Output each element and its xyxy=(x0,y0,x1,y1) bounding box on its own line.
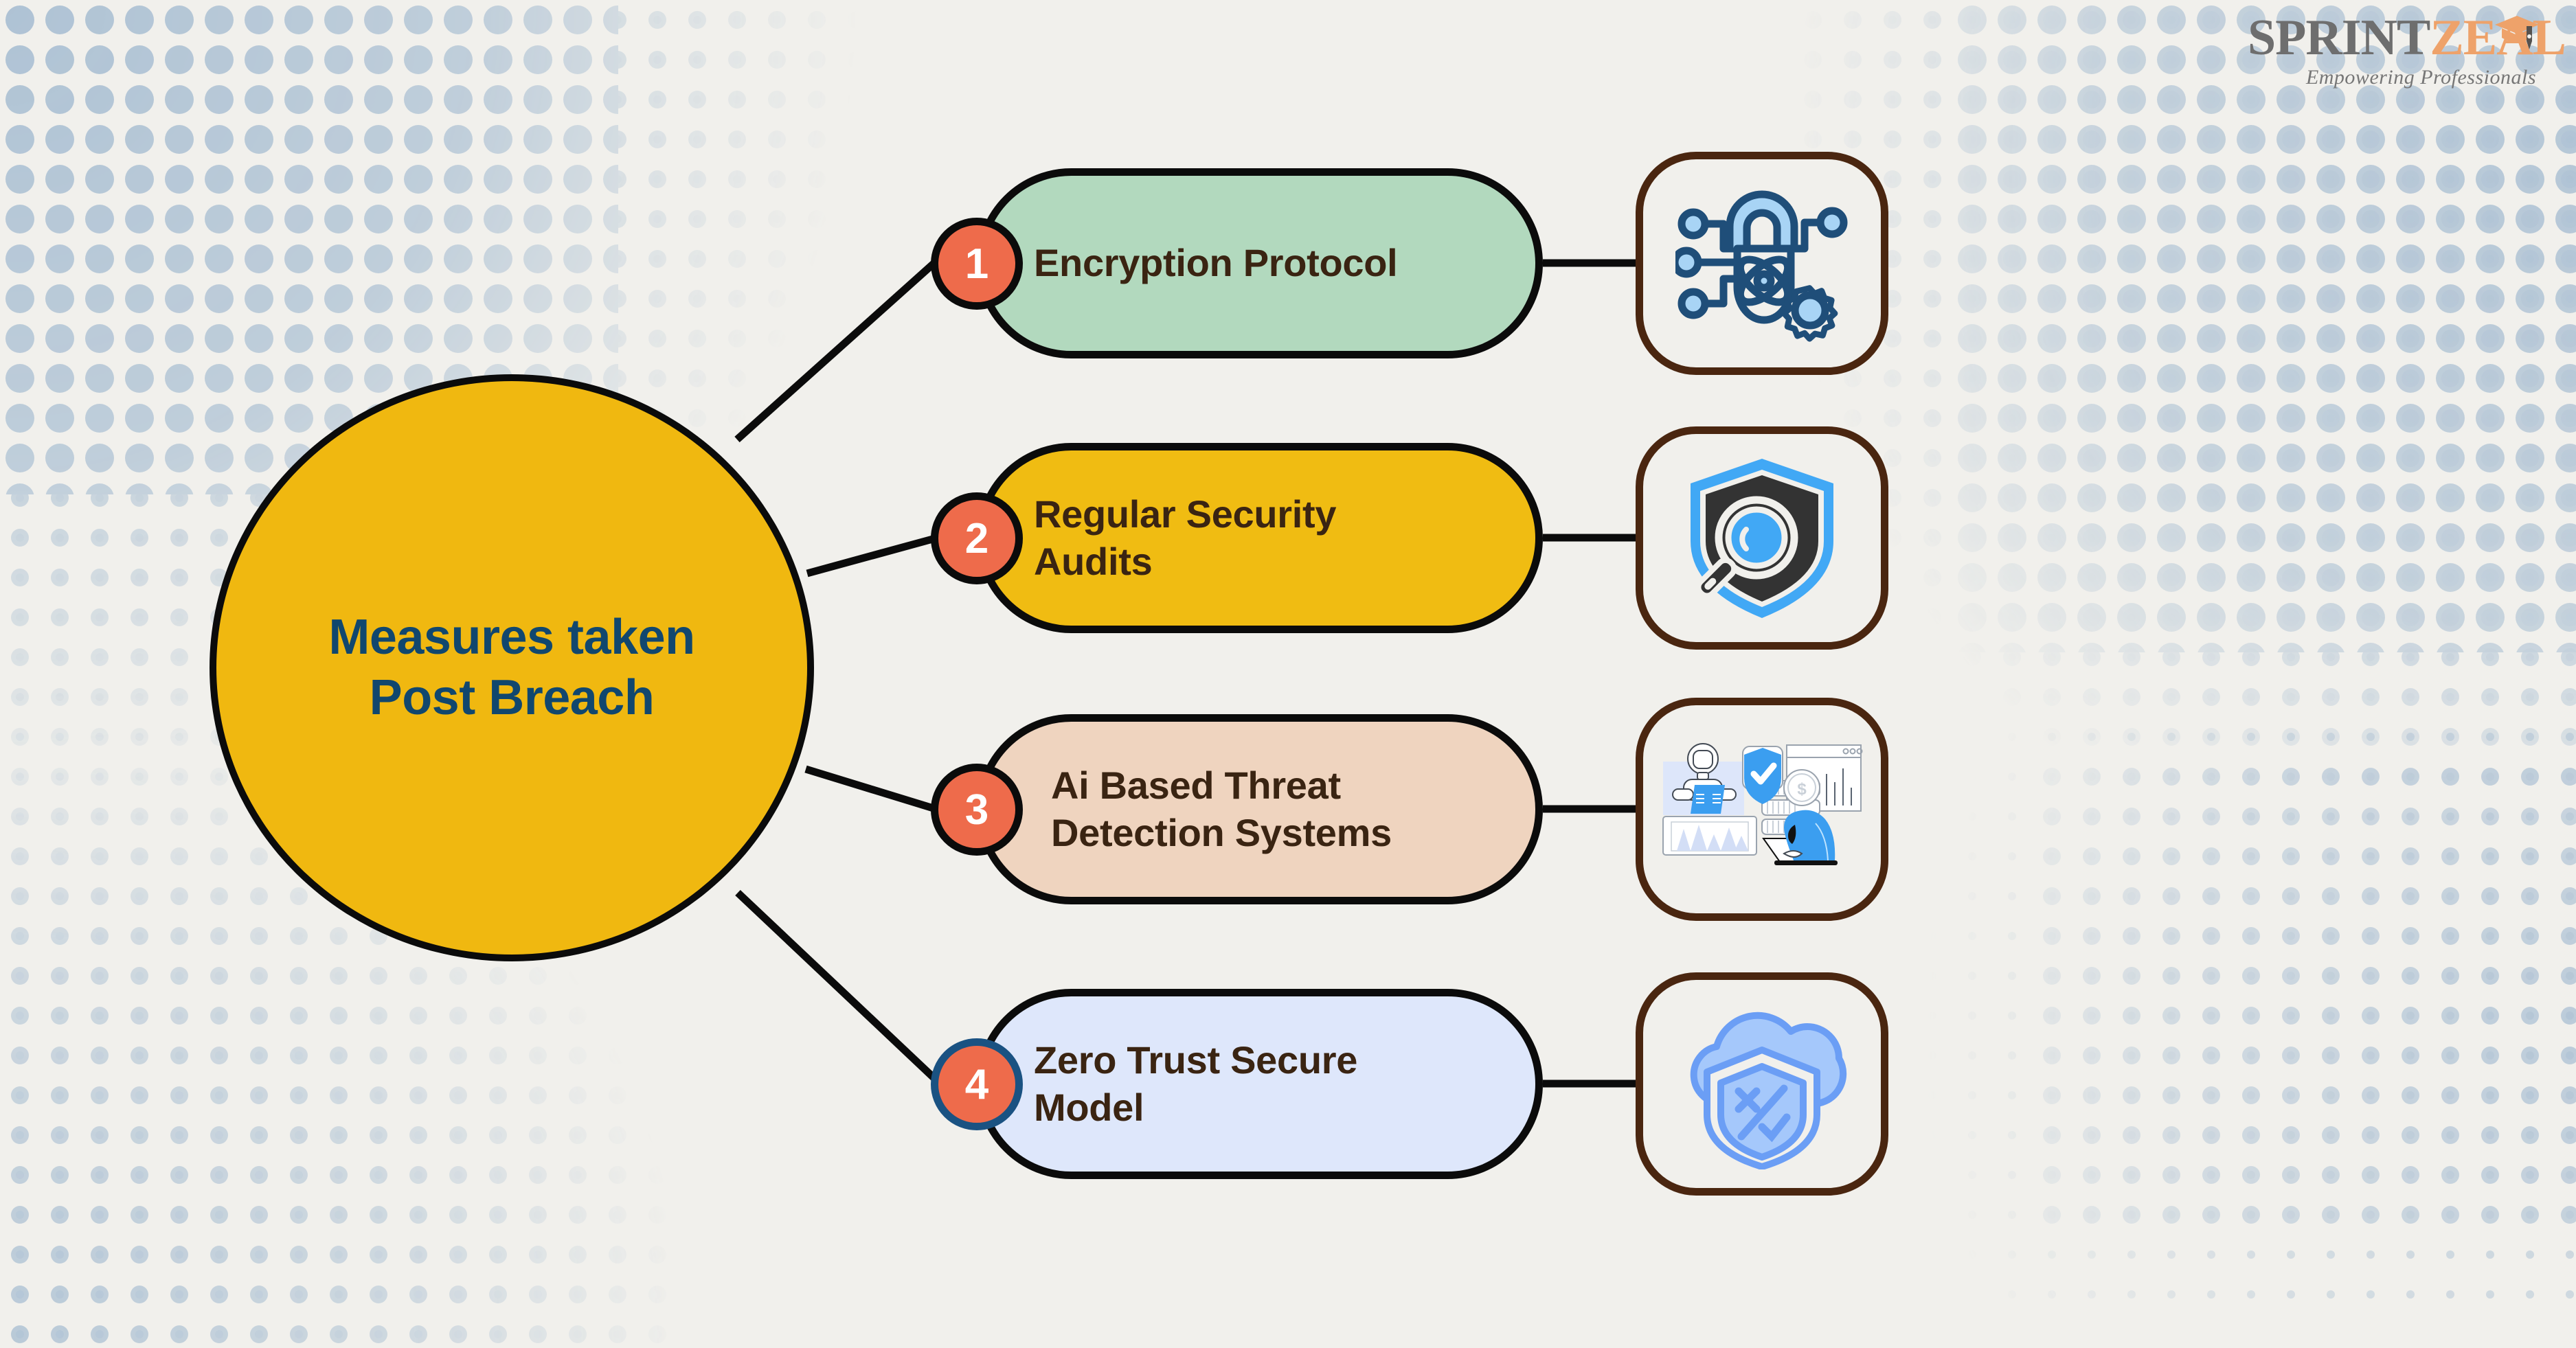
item-pill-2[interactable]: Regular Security Audits xyxy=(976,443,1543,633)
item-number-badge-2[interactable]: 2 xyxy=(931,492,1023,584)
item-number-1: 1 xyxy=(965,240,988,288)
item-number-2: 2 xyxy=(965,514,988,563)
item-icon-card-3[interactable]: $ xyxy=(1636,698,1888,921)
ai-threat-detection-scene-icon: $ xyxy=(1659,731,1865,888)
item-number-3: 3 xyxy=(965,786,988,834)
item-number-badge-3[interactable]: 3 xyxy=(931,764,1023,856)
item-label-4: Zero Trust Secure Model xyxy=(984,1037,1377,1131)
item-label-3: Ai Based Threat Detection Systems xyxy=(984,762,1411,856)
central-hub-node[interactable]: Measures taken Post Breach xyxy=(210,374,814,961)
cloud-shield-zero-trust-icon xyxy=(1675,999,1849,1169)
item-pill-3[interactable]: Ai Based Threat Detection Systems xyxy=(976,714,1543,904)
item-icon-card-2[interactable] xyxy=(1636,426,1888,650)
item-icon-card-1[interactable] xyxy=(1636,152,1888,375)
item-label-3-line-1: Ai Based Threat xyxy=(1051,762,1392,809)
svg-text:$: $ xyxy=(1797,780,1807,799)
item-label-4-line-1: Zero Trust Secure xyxy=(1034,1037,1357,1084)
item-label-2: Regular Security Audits xyxy=(984,491,1355,585)
infographic-canvas: SPRINTZEAL Empowering Professionals xyxy=(0,0,2576,1348)
item-pill-4[interactable]: Zero Trust Secure Model xyxy=(976,989,1543,1179)
shield-magnifier-audit-icon xyxy=(1677,453,1847,624)
item-label-3-line-2: Detection Systems xyxy=(1051,810,1392,856)
item-label-1: Encryption Protocol xyxy=(984,240,1416,286)
item-label-4-line-2: Model xyxy=(1034,1084,1357,1131)
item-number-badge-1[interactable]: 1 xyxy=(931,218,1023,310)
item-number-4: 4 xyxy=(965,1060,988,1109)
item-label-2-line-1: Regular Security xyxy=(1034,491,1336,538)
encrypted-padlock-atom-icon xyxy=(1675,183,1849,345)
item-pill-1[interactable]: Encryption Protocol xyxy=(976,168,1543,358)
page-title: Measures taken Post Breach xyxy=(319,608,704,729)
item-number-badge-4[interactable]: 4 xyxy=(931,1038,1023,1130)
item-icon-card-4[interactable] xyxy=(1636,972,1888,1196)
item-label-2-line-2: Audits xyxy=(1034,538,1336,585)
